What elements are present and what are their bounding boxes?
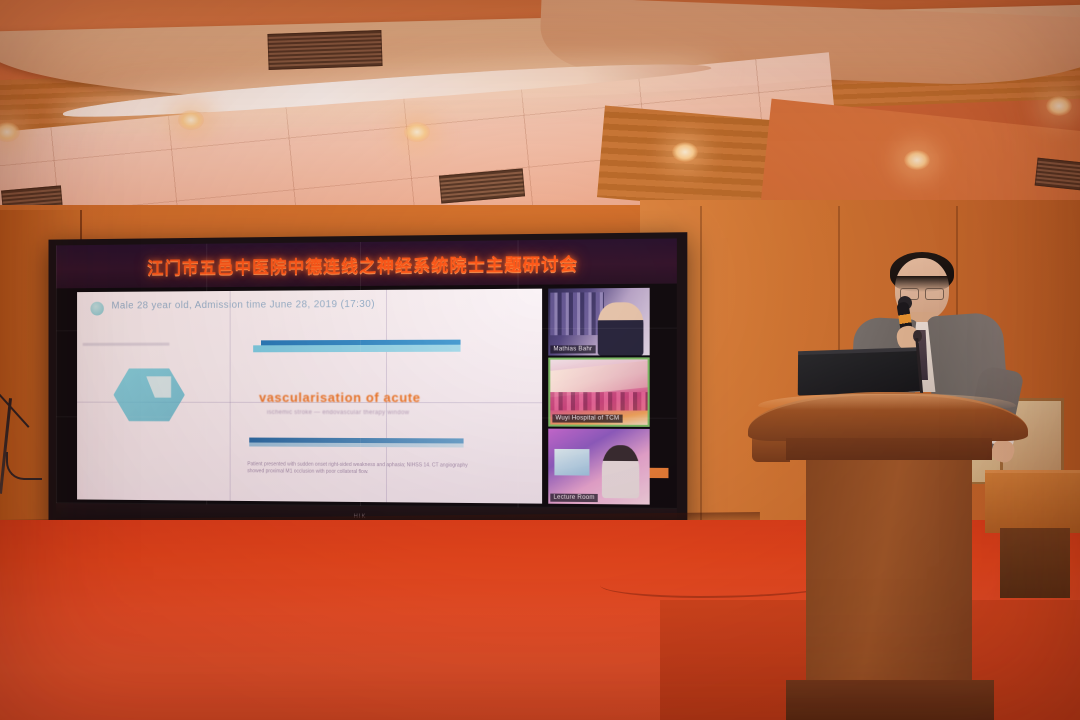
led-video-wall[interactable]: 江门市五邑中医院中德连线之神经系统院士主题研讨会 Male 28 year ol… [49,232,688,540]
side-table-leg [1000,528,1070,598]
video-tile-label: Lecture Room [550,494,598,503]
slide-bullet-icon [90,302,103,316]
podium-laptop[interactable] [798,347,922,395]
event-banner-title: 江门市五邑中医院中德连线之神经系统院士主题研讨会 [147,249,578,278]
podium-column [806,460,972,710]
screen-corner-marker [650,468,669,478]
wall-seam [700,206,702,536]
conference-hall-photo: 江门市五邑中医院中德连线之神经系统院士主题研讨会 Male 28 year ol… [0,0,1080,720]
ceiling-downlight [178,110,204,130]
remote-participant-figure [598,302,644,355]
video-tile-label: Mathias Bahr [550,345,595,353]
ceiling-air-vent [267,30,382,70]
slide-title-bar-accent [253,345,460,353]
remote-participant-figure [602,445,639,498]
slide-seam [230,291,231,501]
side-table [985,470,1080,533]
ceiling-downlight [672,142,698,162]
video-conference-panel: Mathias Bahr Wuyi Hospital of TCM Lectur… [548,288,649,505]
video-tile-background [554,449,589,476]
slide-divider [83,343,170,346]
event-banner: 江门市五邑中医院中德连线之神经系统院士主题研讨会 [56,238,677,288]
video-tile-label: Wuyi Hospital of TCM [552,414,622,422]
ceiling-downlight [404,122,430,142]
ceiling-downlight [1046,96,1072,116]
audience-row [550,392,649,410]
presentation-slide: Male 28 year old, Admission time June 28… [77,289,542,504]
slide-footnote: Patient presented with sudden onset righ… [247,461,476,476]
slide-subline: ischemic stroke — endovascular therapy w… [267,410,409,416]
video-tile-background [550,292,604,335]
led-screen-display: 江门市五邑中医院中德连线之神经系统院士主题研讨会 Male 28 year ol… [56,238,677,508]
video-tile-active[interactable]: Wuyi Hospital of TCM [548,357,649,427]
ceiling-downlight [904,150,930,170]
podium-midsection [786,438,992,460]
slide-orange-heading: vascularisation of acute [259,390,421,405]
slide-section-bar-accent [249,443,463,448]
video-tile[interactable]: Lecture Room [548,429,649,505]
podium-top-highlight [758,394,1016,410]
podium-base [786,680,994,720]
slide-headline: Male 28 year old, Admission time June 28… [112,299,375,312]
ceiling-air-vent [1035,158,1080,191]
video-tile[interactable]: Mathias Bahr [548,288,649,356]
